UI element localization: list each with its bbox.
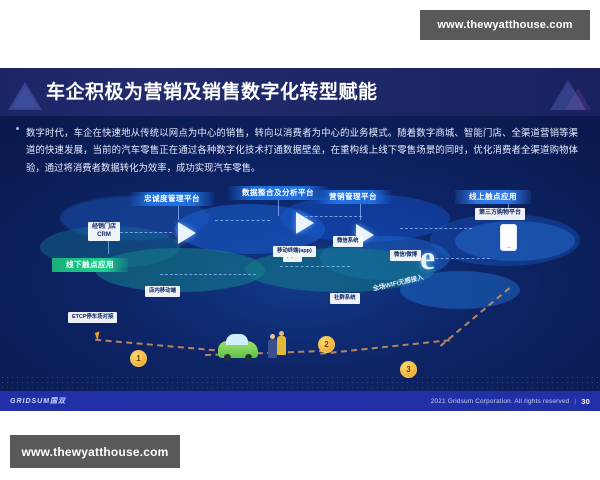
chevron-icon — [296, 212, 314, 234]
node-data-platform-icon — [288, 210, 322, 236]
connector-dashed — [120, 232, 172, 233]
journey-path-segment — [95, 339, 215, 351]
banner-marketing-platform: 营销管理平台 — [315, 190, 391, 204]
mobile-phone-icon — [500, 224, 517, 251]
connector-dashed — [280, 266, 350, 267]
connector-line — [178, 206, 179, 220]
banner-offline-touchpoints: 线下触点应用 — [52, 258, 128, 272]
banner-online-touchpoints: 线上触点应用 — [455, 190, 531, 204]
connector-line — [278, 200, 279, 216]
step-marker-2: 2 — [318, 336, 335, 353]
dot-grid-decor — [0, 375, 600, 391]
journey-path-segment — [320, 339, 449, 355]
step-marker-1: 1 — [130, 350, 147, 367]
label-etcp-parking: ETCP停车场对接 — [68, 312, 117, 323]
body-paragraph-block: 数字时代，车企在快速地从传统以网点为中心的销售，转向以消费者为中心的业务模式。随… — [26, 124, 578, 176]
person-illustration — [268, 334, 277, 358]
car-wheel — [224, 354, 231, 361]
banner-loyalty-platform: 忠诚度管理平台 — [130, 192, 214, 206]
connector-dashed — [215, 220, 270, 221]
label-mini-program: 微信/微博 — [390, 250, 421, 261]
watermark-bottom: www.thewyatthouse.com — [10, 435, 180, 468]
triangle-decor-left-inner-icon — [12, 86, 38, 108]
person-illustration — [277, 331, 286, 355]
body-paragraph-text: 数字时代，车企在快速地从传统以网点为中心的销售，转向以消费者为中心的业务模式。随… — [26, 127, 578, 173]
watermark-top: www.thewyatthouse.com — [420, 10, 590, 40]
label-mobile-app: 移动终端(app) — [273, 246, 316, 257]
label-line2: CRM — [97, 232, 111, 238]
label-wechat-system: 微信系统 — [333, 236, 363, 247]
car-wheel — [245, 354, 252, 361]
page-title: 车企积极为营销及销售数字化转型赋能 — [46, 77, 378, 104]
person-body — [268, 339, 277, 358]
copyright-text: 2021 Gridsum Corporation. All rights res… — [431, 398, 570, 405]
label-dealer-crm: 经销门店 CRM — [88, 222, 120, 241]
label-store-mobile: 店内移动端 — [145, 286, 180, 297]
triangle-decor-right-inner-icon — [565, 88, 591, 110]
slide-footer: GRIDSUM国双 2021 Gridsum Corporation. All … — [0, 391, 600, 411]
connector-dashed — [400, 228, 472, 229]
connector-line — [360, 204, 361, 220]
slide-canvas: 车企积极为营销及销售数字化转型赋能 数字时代，车企在快速地从传统以网点为中心的销… — [0, 68, 600, 411]
label-social-system: 社群系统 — [330, 293, 360, 304]
node-loyalty-platform-icon — [170, 220, 204, 246]
chevron-icon — [178, 222, 196, 244]
car-illustration — [218, 341, 258, 358]
connector-dashed — [160, 274, 256, 275]
gridsum-logo: GRIDSUM国双 — [10, 396, 66, 406]
person-body — [277, 336, 286, 355]
label-third-party-shop: 第三方购物平台 — [475, 208, 525, 220]
bullet-dot-icon — [16, 127, 19, 130]
internet-explorer-icon: e — [420, 242, 435, 276]
slide-header: 车企积极为营销及销售数字化转型赋能 — [0, 68, 600, 116]
label-line1: 经销门店 — [92, 224, 116, 230]
page-number: 30 — [581, 397, 590, 406]
banner-data-platform: 数据整合及分析平台 — [228, 186, 328, 200]
footer-separator: | — [574, 398, 576, 405]
footer-copyright: 2021 Gridsum Corporation. All rights res… — [431, 397, 590, 406]
